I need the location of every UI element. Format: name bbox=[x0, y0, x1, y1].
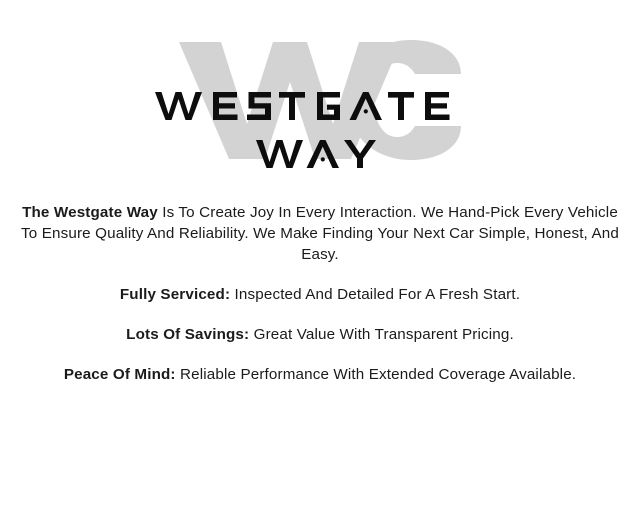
brand-logo-lockup bbox=[0, 38, 640, 188]
lead-in-lots-of-savings: Lots Of Savings: bbox=[126, 326, 249, 343]
lead-in-westgate-way: The Westgate Way bbox=[22, 204, 158, 221]
body-lots-of-savings: Great Value With Transparent Pricing. bbox=[249, 326, 514, 343]
value-proposition-copy: The Westgate Way Is To Create Joy In Eve… bbox=[0, 202, 640, 385]
paragraph-fully-serviced: Fully Serviced: Inspected And Detailed F… bbox=[12, 284, 628, 305]
body-peace-of-mind: Reliable Performance With Extended Cover… bbox=[176, 366, 577, 383]
paragraph-lots-of-savings: Lots Of Savings: Great Value With Transp… bbox=[12, 324, 628, 345]
paragraph-peace-of-mind: Peace Of Mind: Reliable Performance With… bbox=[12, 364, 628, 385]
brand-wordmark bbox=[0, 38, 640, 188]
wordmark-way bbox=[256, 138, 384, 170]
wordmark-westgate bbox=[155, 90, 485, 122]
promo-panel: The Westgate Way Is To Create Joy In Eve… bbox=[0, 38, 640, 518]
lead-in-fully-serviced: Fully Serviced: bbox=[120, 286, 230, 303]
body-fully-serviced: Inspected And Detailed For A Fresh Start… bbox=[230, 286, 520, 303]
paragraph-westgate-way: The Westgate Way Is To Create Joy In Eve… bbox=[12, 202, 628, 265]
lead-in-peace-of-mind: Peace Of Mind: bbox=[64, 366, 176, 383]
